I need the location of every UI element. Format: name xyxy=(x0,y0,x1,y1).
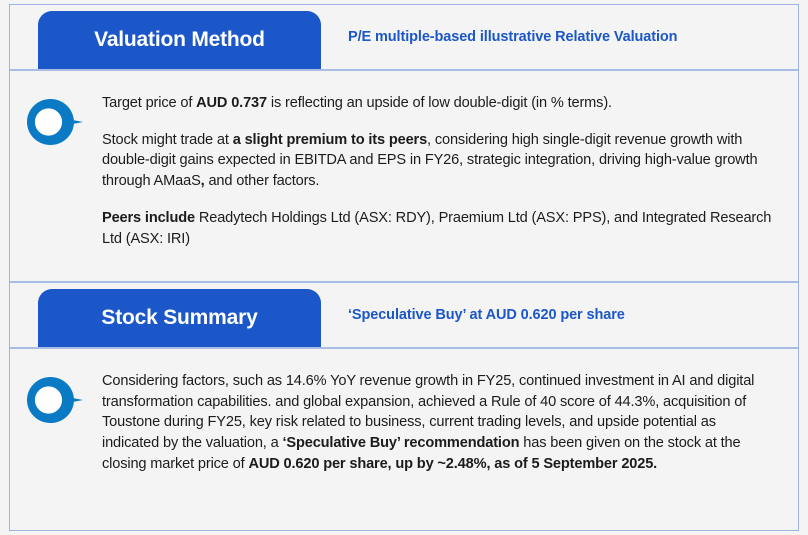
tab-stock-summary-label: Stock Summary xyxy=(101,307,257,328)
subtitle-stock-summary: ‘Speculative Buy’ at AUD 0.620 per share xyxy=(321,283,625,347)
subtitle-valuation-method: P/E multiple-based illustrative Relative… xyxy=(321,5,677,69)
section-body-stock-summary: Considering factors, such as 14.6% YoY r… xyxy=(10,349,798,499)
bullet-wrap-valuation-method xyxy=(26,93,102,271)
paragraph-premium-to-peers: Stock might trade at a slight premium to… xyxy=(102,130,772,192)
valuation-summary-card: Valuation Method P/E multiple-based illu… xyxy=(9,4,799,531)
paragraph-recommendation: Considering factors, such as 14.6% YoY r… xyxy=(102,371,772,475)
paragraph-stack-stock-summary: Considering factors, such as 14.6% YoY r… xyxy=(102,371,782,489)
section-body-valuation-method: Target price of AUD 0.737 is reflecting … xyxy=(10,71,798,281)
screenshot-root: Valuation Method P/E multiple-based illu… xyxy=(0,0,808,535)
tab-valuation-method-label: Valuation Method xyxy=(94,29,265,50)
eye-pointer-bullet-icon xyxy=(26,98,84,146)
paragraph-target-price: Target price of AUD 0.737 is reflecting … xyxy=(102,93,772,114)
section-header-stock-summary: Stock Summary ‘Speculative Buy’ at AUD 0… xyxy=(10,281,798,349)
paragraph-stack-valuation-method: Target price of AUD 0.737 is reflecting … xyxy=(102,93,782,271)
bullet-wrap-stock-summary xyxy=(26,371,102,489)
eye-pointer-bullet-icon xyxy=(26,376,84,424)
paragraph-peers-include: Peers include Readytech Holdings Ltd (AS… xyxy=(102,208,772,249)
tab-stock-summary[interactable]: Stock Summary xyxy=(38,289,321,347)
tab-valuation-method[interactable]: Valuation Method xyxy=(38,11,321,69)
section-header-valuation-method: Valuation Method P/E multiple-based illu… xyxy=(10,5,798,71)
